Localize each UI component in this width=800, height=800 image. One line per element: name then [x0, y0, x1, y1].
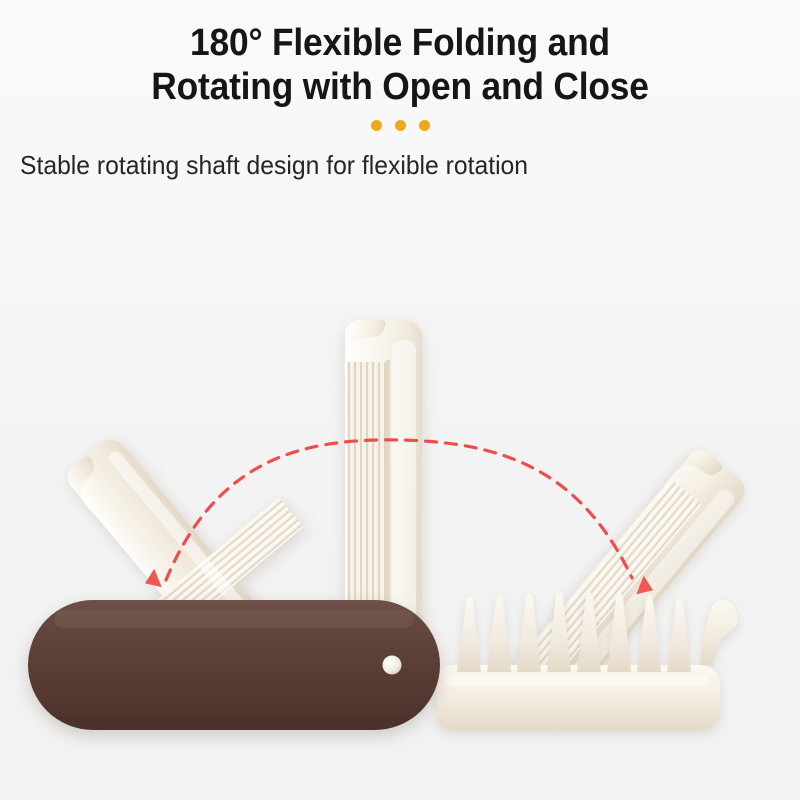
brown-folding-handle	[28, 600, 440, 730]
amber-dot	[419, 120, 430, 131]
wide-comb-base	[436, 665, 720, 730]
header-text-block: 180° Flexible Folding and Rotating with …	[0, 0, 800, 109]
headline-line-2: Rotating with Open and Close	[28, 65, 772, 109]
handle-gloss	[54, 610, 414, 628]
product-feature-image: 180° Flexible Folding and Rotating with …	[0, 0, 800, 800]
wide-tooth-comb-bottom	[436, 593, 738, 731]
page-subtitle: Stable rotating shaft design for flexibl…	[20, 148, 780, 182]
handle-pivot-hole	[383, 656, 402, 675]
headline-line-1: 180° Flexible Folding and	[28, 21, 772, 65]
product-scene	[0, 210, 800, 800]
wide-comb-highlight	[446, 676, 710, 686]
amber-dot	[371, 120, 382, 131]
wide-comb-hook	[700, 600, 738, 665]
amber-dot	[395, 120, 406, 131]
page-title: 180° Flexible Folding and Rotating with …	[28, 0, 772, 109]
product-illustration	[0, 210, 800, 800]
divider-dots	[0, 120, 800, 131]
